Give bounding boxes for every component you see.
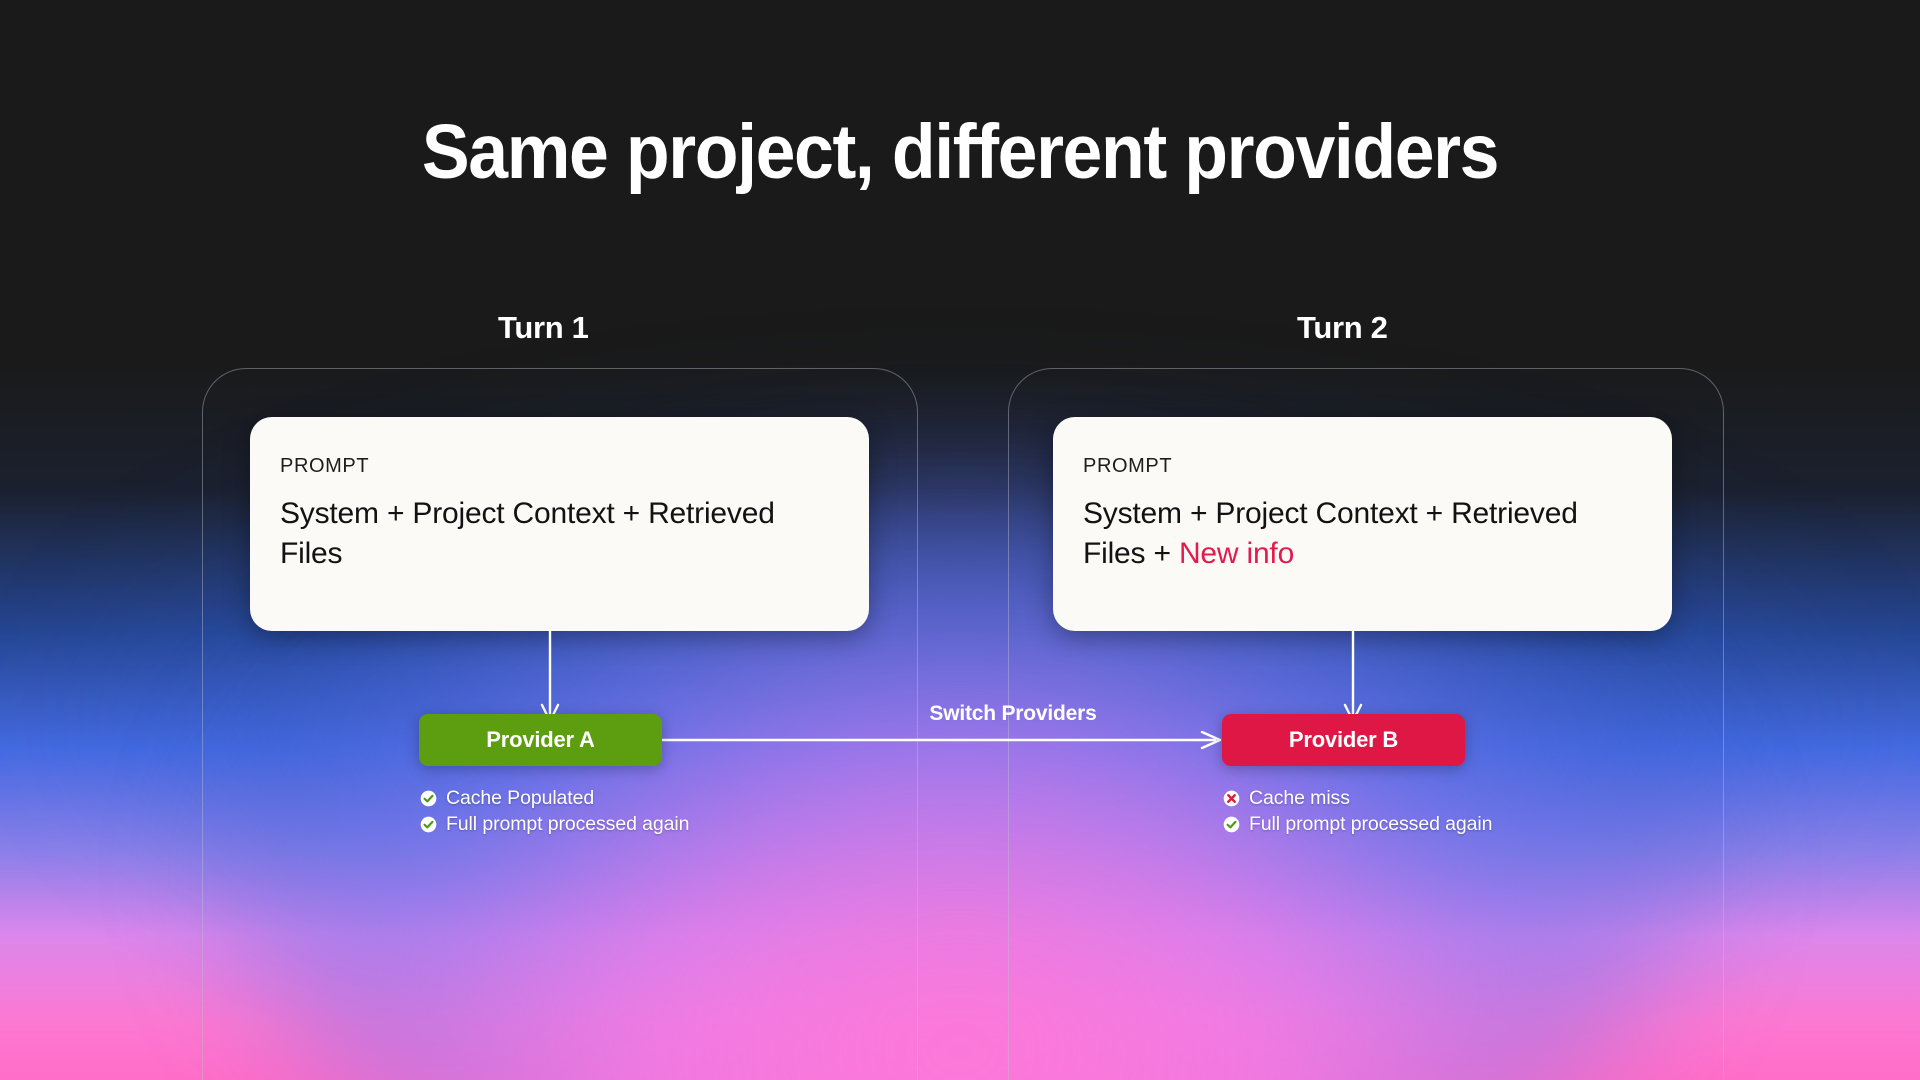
provider-b-button[interactable]: Provider B	[1222, 714, 1465, 766]
list-item: Cache Populated	[420, 786, 689, 811]
check-circle-icon	[1223, 816, 1240, 833]
prompt-text: System + Project Context + Retrieved Fil…	[1083, 494, 1642, 573]
prompt-text-plain: System + Project Context + Retrieved Fil…	[280, 497, 775, 570]
check-circle-icon	[420, 816, 437, 833]
checklist-turn-1: Cache Populated Full prompt processed ag…	[420, 786, 689, 838]
list-item-label: Full prompt processed again	[1249, 813, 1492, 836]
prompt-kicker: PROMPT	[1083, 455, 1642, 478]
x-circle-icon	[1223, 790, 1240, 807]
prompt-kicker: PROMPT	[280, 455, 839, 478]
provider-b-label: Provider B	[1289, 727, 1398, 753]
arrow-down-icon-turn-1	[539, 631, 561, 725]
list-item: Full prompt processed again	[420, 812, 689, 837]
provider-a-button[interactable]: Provider A	[419, 714, 662, 766]
turn-1-label: Turn 1	[498, 310, 589, 346]
arrow-right-icon-switch-providers	[662, 728, 1224, 752]
list-item: Full prompt processed again	[1223, 812, 1492, 837]
list-item-label: Full prompt processed again	[446, 813, 689, 836]
checklist-turn-2: Cache miss Full prompt processed again	[1223, 786, 1492, 838]
diagram-canvas: Same project, different providers Turn 1…	[0, 0, 1920, 1080]
list-item: Cache miss	[1223, 786, 1492, 811]
prompt-text: System + Project Context + Retrieved Fil…	[280, 494, 839, 573]
arrow-down-icon-turn-2	[1342, 631, 1364, 725]
check-circle-icon	[420, 790, 437, 807]
prompt-card-turn-2: PROMPT System + Project Context + Retrie…	[1053, 417, 1672, 631]
provider-a-label: Provider A	[486, 727, 594, 753]
list-item-label: Cache Populated	[446, 787, 594, 810]
list-item-label: Cache miss	[1249, 787, 1350, 810]
switch-providers-label: Switch Providers	[873, 702, 1153, 726]
turn-2-label: Turn 2	[1297, 310, 1388, 346]
prompt-text-plain: System + Project Context + Retrieved Fil…	[1083, 497, 1578, 570]
page-title: Same project, different providers	[67, 108, 1853, 197]
prompt-text-highlight: New info	[1179, 537, 1294, 570]
prompt-card-turn-1: PROMPT System + Project Context + Retrie…	[250, 417, 869, 631]
